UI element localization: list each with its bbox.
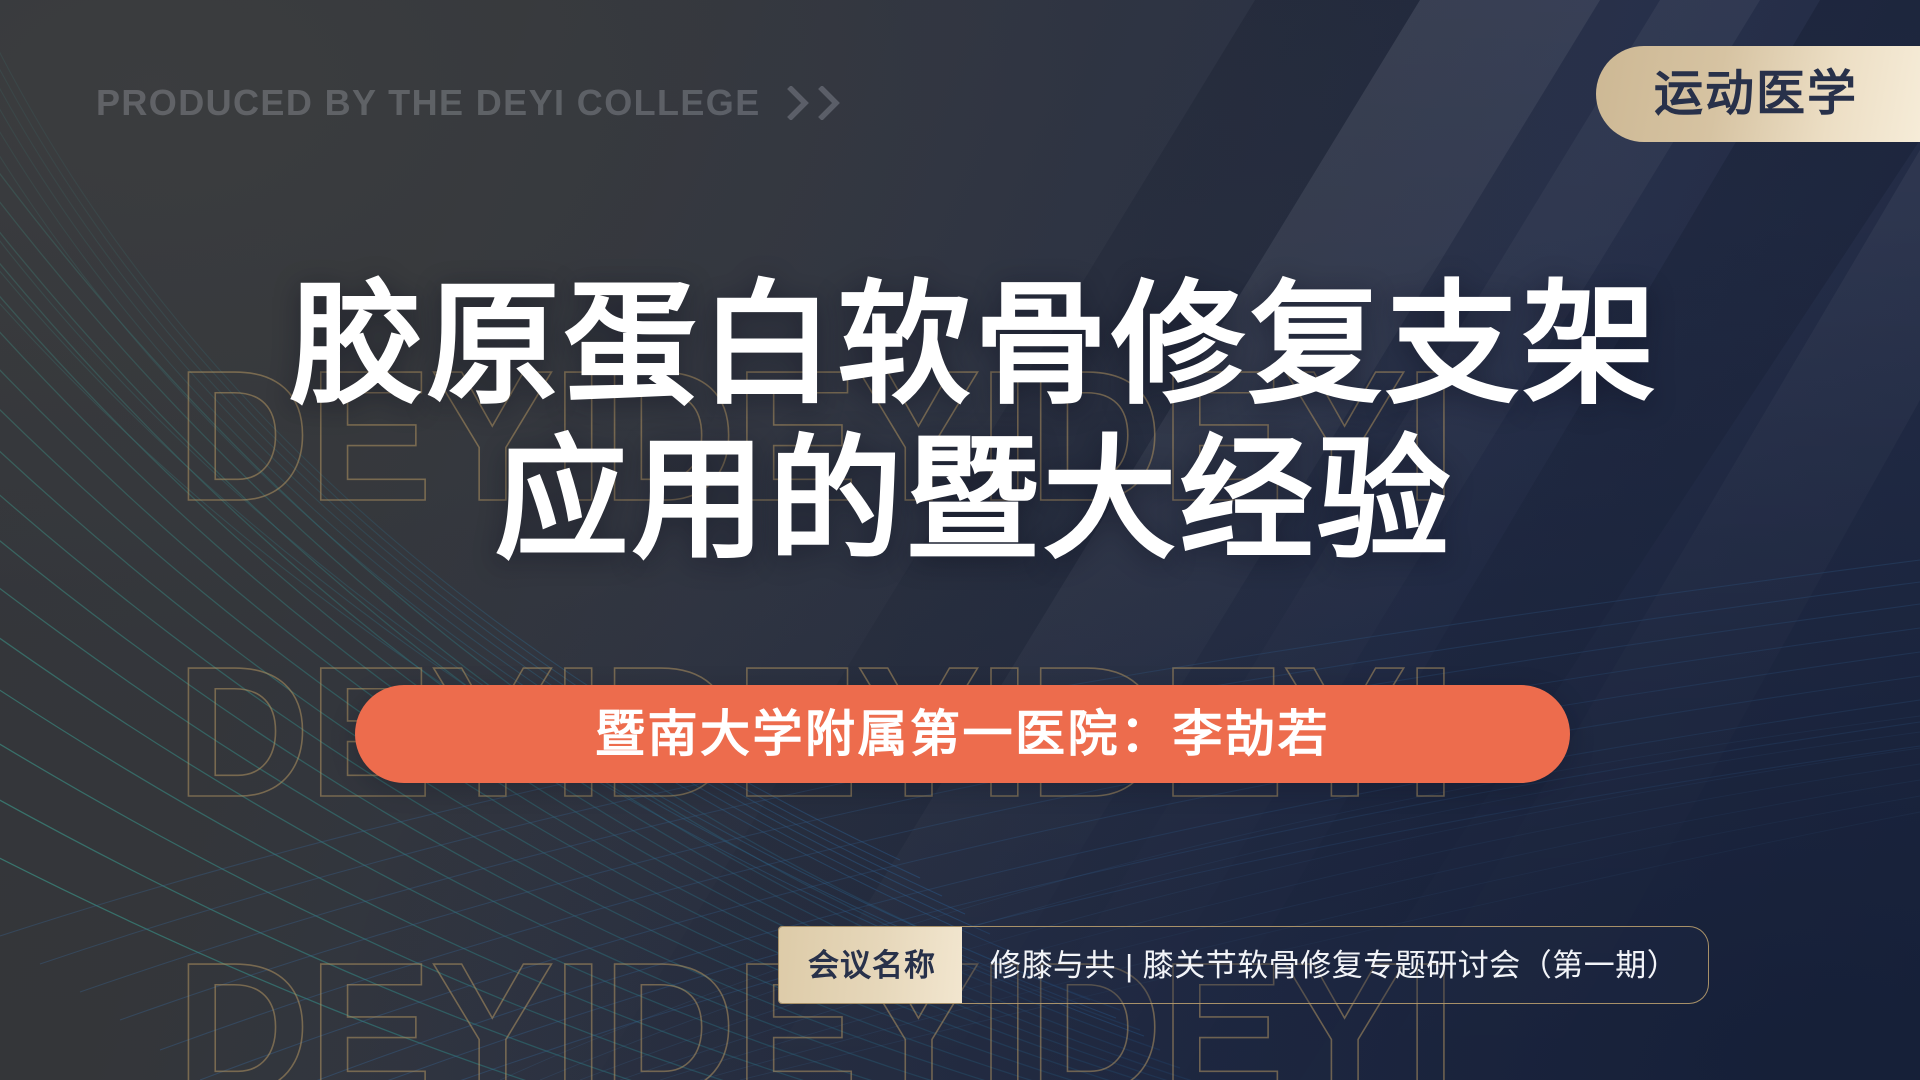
producer-kicker: PRODUCED BY THE DEYI COLLEGE — [96, 82, 844, 124]
conference-name-text: 修膝与共 | 膝关节软骨修复专题研讨会（第一期） — [990, 950, 1678, 981]
speaker-label: 暨南大学附属第一医院：李劼若 — [595, 709, 1330, 759]
poster-canvas: DEYIDEYIDEYI DEYIDEYIDEYI DEYIDEYIDEYI P… — [0, 0, 1920, 1080]
speaker-pill: 暨南大学附属第一医院：李劼若 — [355, 685, 1570, 783]
conference-label-box: 会议名称 — [778, 926, 962, 1004]
category-badge: 运动医学 — [1596, 46, 1920, 142]
conference-name-box: 修膝与共 | 膝关节软骨修复专题研讨会（第一期） — [962, 927, 1708, 1003]
page-title: 胶原蛋白软骨修复支架 应用的暨大经验 — [0, 268, 1920, 579]
producer-kicker-text: PRODUCED BY THE DEYI COLLEGE — [96, 82, 761, 124]
conference-label-text: 会议名称 — [808, 950, 936, 981]
title-line-1: 胶原蛋白软骨修复支架 — [28, 268, 1920, 423]
title-line-2: 应用的暨大经验 — [28, 423, 1920, 578]
category-badge-label: 运动医学 — [1654, 70, 1858, 119]
double-chevron-right-icon — [787, 86, 844, 120]
conference-bar: 会议名称 修膝与共 | 膝关节软骨修复专题研讨会（第一期） — [778, 926, 1709, 1004]
